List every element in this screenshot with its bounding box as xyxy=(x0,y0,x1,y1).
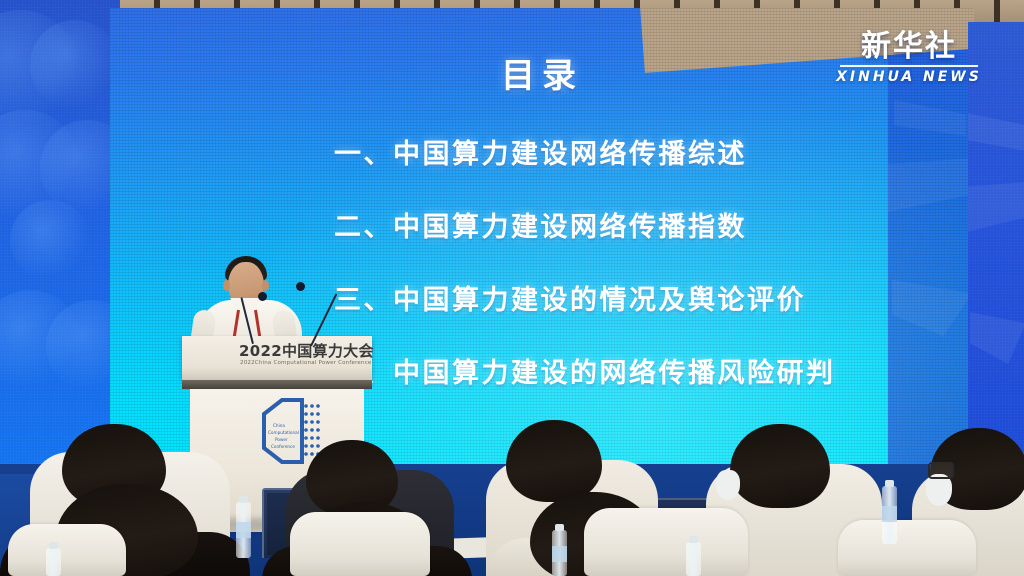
chair-back xyxy=(838,520,976,576)
face-mask xyxy=(716,470,740,500)
audience-head xyxy=(730,424,830,508)
mic-head xyxy=(258,292,267,301)
svg-text:Computational: Computational xyxy=(268,430,299,435)
toc-item-1: 一、中国算力建设网络传播综述 xyxy=(110,132,974,171)
conference-emblem-icon: China Computational Power Conference xyxy=(260,394,322,468)
podium-lip xyxy=(182,380,372,389)
polygon-decor xyxy=(894,100,966,136)
bottle-cap xyxy=(885,480,894,487)
microphone-right xyxy=(284,282,334,344)
bottle-cap xyxy=(689,536,698,543)
speaker-ear xyxy=(223,280,230,291)
bottle-cap xyxy=(49,542,58,549)
podium-sign-en: 2022China Computational Power Conference xyxy=(240,360,372,366)
conference-photo-scene: 目录 一、中国算力建设网络传播综述 二、中国算力建设网络传播指数 三、中国算力建… xyxy=(0,0,1024,576)
speaker-ear xyxy=(262,280,269,291)
svg-text:Conference: Conference xyxy=(271,444,295,449)
bottle-cap xyxy=(239,496,248,503)
bottle-cap xyxy=(555,524,564,531)
toc-item-2: 二、中国算力建设网络传播指数 xyxy=(110,205,974,244)
xinhua-watermark: 新华社 XINHUA NEWS xyxy=(834,30,984,85)
xinhua-logo-en: XINHUA NEWS xyxy=(834,69,984,85)
svg-text:Power: Power xyxy=(275,437,288,442)
xinhua-logo-cn: 新华社 xyxy=(834,30,984,64)
right-wall-texture xyxy=(968,22,1024,482)
xinhua-logo-rule xyxy=(840,65,978,67)
chair-back xyxy=(584,508,748,576)
chair-back xyxy=(8,524,126,576)
water-bottle xyxy=(686,542,701,576)
left-wall-panel xyxy=(0,0,120,470)
water-bottle xyxy=(46,548,61,576)
mic-head xyxy=(296,282,305,291)
mic-stem xyxy=(240,297,254,344)
eyeglasses xyxy=(928,462,954,479)
microphone-left xyxy=(236,292,276,344)
mic-stem xyxy=(310,293,337,346)
audience-head xyxy=(506,420,602,502)
bottle-label xyxy=(236,522,251,538)
podium-top-panel: 2022中国算力大会 2022China Computational Power… xyxy=(182,336,372,380)
bottle-label xyxy=(882,506,897,522)
bokeh-circle xyxy=(10,200,90,280)
svg-text:China: China xyxy=(273,423,285,428)
right-wall-panel xyxy=(968,22,1024,482)
bottle-label xyxy=(552,546,567,562)
bokeh-circle xyxy=(30,20,120,110)
chair-back xyxy=(290,512,430,576)
